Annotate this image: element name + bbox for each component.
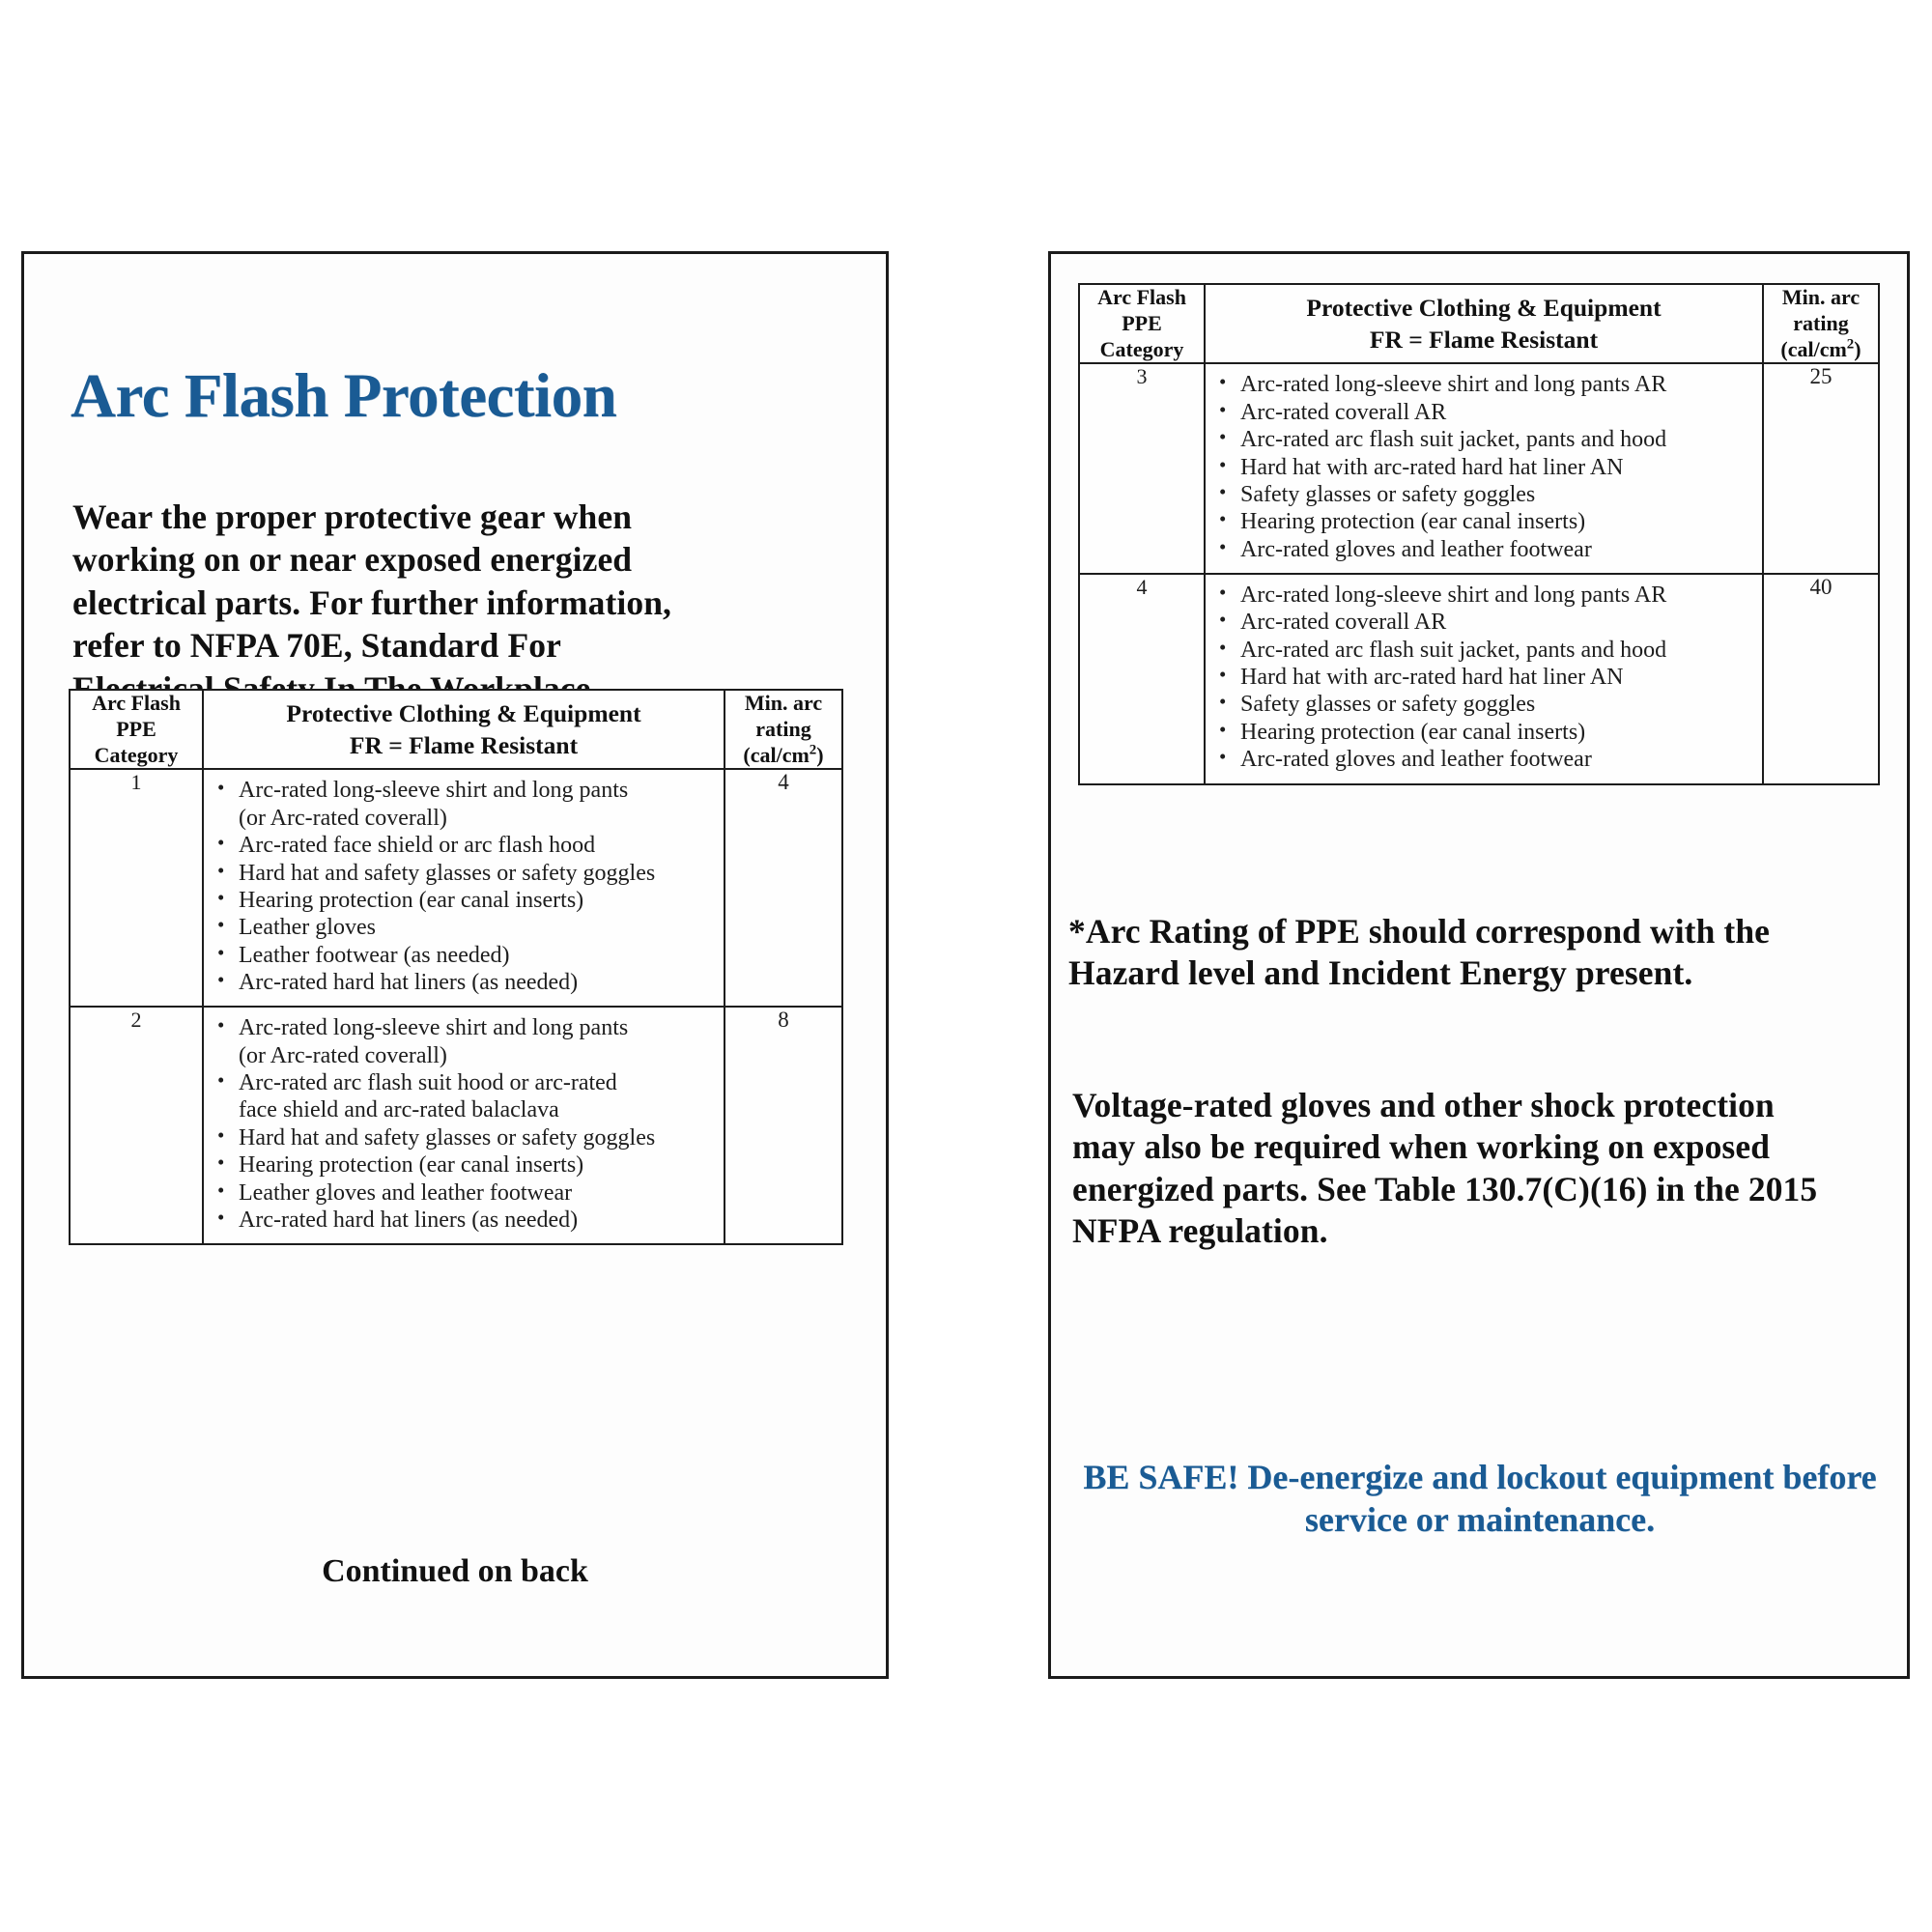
cell-category-number: 4 — [1079, 574, 1205, 784]
list-item: Hearing protection (ear canal inserts) — [237, 1152, 720, 1179]
cell-category-number: 2 — [70, 1007, 203, 1244]
rating-unit-close: ) — [1854, 337, 1861, 361]
column-header-equipment: Protective Clothing & Equipment FR = Fla… — [203, 690, 724, 769]
table-row: 3Arc-rated long-sleeve shirt and long pa… — [1079, 363, 1879, 574]
cell-equipment-list: Arc-rated long-sleeve shirt and long pan… — [1205, 574, 1763, 784]
list-item: Arc-rated long-sleeve shirt and long pan… — [1238, 582, 1758, 609]
list-item: Arc-rated long-sleeve shirt and long pan… — [237, 1015, 720, 1041]
cell-min-arc-rating: 4 — [724, 769, 842, 1007]
equipment-list: Arc-rated long-sleeve shirt and long pan… — [1206, 575, 1762, 783]
column-header-rating-unit: (cal/cm2) — [1764, 337, 1878, 363]
column-header-rating-unit: (cal/cm2) — [725, 743, 841, 769]
column-header-category: Arc Flash PPE Category — [70, 690, 203, 769]
front-card-panel: Arc Flash Protection Wear the proper pro… — [21, 251, 889, 1679]
list-item: Leather footwear (as needed) — [237, 943, 720, 969]
list-item: (or Arc-rated coverall) — [237, 806, 720, 832]
arc-rating-note: *Arc Rating of PPE should correspond wit… — [1068, 911, 1841, 995]
list-item: Leather gloves and leather footwear — [237, 1180, 720, 1207]
table-header-row: Arc Flash PPE Category Protective Clothi… — [70, 690, 842, 769]
equipment-list: Arc-rated long-sleeve shirt and long pan… — [1206, 364, 1762, 573]
list-item: Arc-rated gloves and leather footwear — [1238, 537, 1758, 563]
voltage-rated-gloves-note: Voltage-rated gloves and other shock pro… — [1072, 1085, 1845, 1252]
column-header-category: Arc Flash PPE Category — [1079, 284, 1205, 363]
ppe-category-table-front: Arc Flash PPE Category Protective Clothi… — [69, 689, 843, 1245]
list-item: Safety glasses or safety goggles — [1238, 692, 1758, 718]
column-header-rating-line2: rating — [725, 717, 841, 743]
column-header-category-line1: Arc Flash — [71, 691, 202, 717]
column-header-category-line3: Category — [71, 743, 202, 769]
list-item: Leather gloves — [237, 915, 720, 941]
list-item: Arc-rated arc flash suit jacket, pants a… — [1238, 638, 1758, 664]
list-item: Hearing protection (ear canal inserts) — [237, 888, 720, 914]
be-safe-banner: BE SAFE! De-energize and lockout equipme… — [1065, 1457, 1895, 1542]
column-header-rating: Min. arc rating (cal/cm2) — [1763, 284, 1879, 363]
list-item: (or Arc-rated coverall) — [237, 1043, 720, 1069]
rating-unit-open: (cal/cm — [743, 743, 809, 767]
front-table-body: 1Arc-rated long-sleeve shirt and long pa… — [70, 769, 842, 1244]
column-header-rating: Min. arc rating (cal/cm2) — [724, 690, 842, 769]
column-header-equipment-line1: Protective Clothing & Equipment — [204, 697, 724, 729]
cell-min-arc-rating: 25 — [1763, 363, 1879, 574]
column-header-equipment-line2: FR = Flame Resistant — [1206, 324, 1762, 355]
column-header-equipment-line2: FR = Flame Resistant — [204, 729, 724, 761]
column-header-rating-line1: Min. arc — [1764, 285, 1878, 311]
list-item: Arc-rated face shield or arc flash hood — [237, 833, 720, 859]
list-item: face shield and arc-rated balaclava — [237, 1097, 720, 1123]
list-item: Arc-rated hard hat liners (as needed) — [237, 970, 720, 996]
list-item: Hearing protection (ear canal inserts) — [1238, 720, 1758, 746]
list-item: Arc-rated coverall AR — [1238, 610, 1758, 636]
table-header-row: Arc Flash PPE Category Protective Clothi… — [1079, 284, 1879, 363]
table-row: 2Arc-rated long-sleeve shirt and long pa… — [70, 1007, 842, 1244]
column-header-category-line2: PPE — [1080, 311, 1204, 337]
table-row: 4Arc-rated long-sleeve shirt and long pa… — [1079, 574, 1879, 784]
list-item: Hard hat with arc-rated hard hat liner A… — [1238, 665, 1758, 691]
list-item: Hearing protection (ear canal inserts) — [1238, 509, 1758, 535]
cell-equipment-list: Arc-rated long-sleeve shirt and long pan… — [203, 769, 724, 1007]
list-item: Arc-rated arc flash suit jacket, pants a… — [1238, 427, 1758, 453]
table-row: 1Arc-rated long-sleeve shirt and long pa… — [70, 769, 842, 1007]
list-item: Safety glasses or safety goggles — [1238, 482, 1758, 508]
rating-unit-open: (cal/cm — [1780, 337, 1846, 361]
column-header-category-line3: Category — [1080, 337, 1204, 363]
list-item: Arc-rated long-sleeve shirt and long pan… — [1238, 372, 1758, 398]
column-header-rating-line1: Min. arc — [725, 691, 841, 717]
cell-category-number: 3 — [1079, 363, 1205, 574]
list-item: Arc-rated gloves and leather footwear — [1238, 747, 1758, 773]
page-title: Arc Flash Protection — [71, 360, 616, 433]
list-item: Arc-rated arc flash suit hood or arc-rat… — [237, 1070, 720, 1096]
column-header-equipment: Protective Clothing & Equipment FR = Fla… — [1205, 284, 1763, 363]
list-item: Hard hat and safety glasses or safety go… — [237, 1125, 720, 1151]
list-item: Arc-rated coverall AR — [1238, 400, 1758, 426]
cell-equipment-list: Arc-rated long-sleeve shirt and long pan… — [203, 1007, 724, 1244]
column-header-equipment-line1: Protective Clothing & Equipment — [1206, 292, 1762, 324]
equipment-list: Arc-rated long-sleeve shirt and long pan… — [204, 1008, 724, 1243]
cell-min-arc-rating: 8 — [724, 1007, 842, 1244]
list-item: Arc-rated hard hat liners (as needed) — [237, 1207, 720, 1234]
continued-on-back-label: Continued on back — [24, 1553, 886, 1590]
back-card-panel: Arc Flash PPE Category Protective Clothi… — [1048, 251, 1910, 1679]
list-item: Hard hat with arc-rated hard hat liner A… — [1238, 455, 1758, 481]
rating-unit-close: ) — [816, 743, 823, 767]
cell-category-number: 1 — [70, 769, 203, 1007]
column-header-category-line2: PPE — [71, 717, 202, 743]
intro-paragraph: Wear the proper protective gear when wor… — [72, 496, 691, 710]
cell-min-arc-rating: 40 — [1763, 574, 1879, 784]
equipment-list: Arc-rated long-sleeve shirt and long pan… — [204, 770, 724, 1006]
ppe-category-table-back: Arc Flash PPE Category Protective Clothi… — [1078, 283, 1880, 785]
column-header-category-line1: Arc Flash — [1080, 285, 1204, 311]
cell-equipment-list: Arc-rated long-sleeve shirt and long pan… — [1205, 363, 1763, 574]
list-item: Hard hat and safety glasses or safety go… — [237, 861, 720, 887]
list-item: Arc-rated long-sleeve shirt and long pan… — [237, 778, 720, 804]
column-header-rating-line2: rating — [1764, 311, 1878, 337]
safety-card-canvas: Arc Flash Protection Wear the proper pro… — [0, 0, 1932, 1932]
back-table-body: 3Arc-rated long-sleeve shirt and long pa… — [1079, 363, 1879, 783]
